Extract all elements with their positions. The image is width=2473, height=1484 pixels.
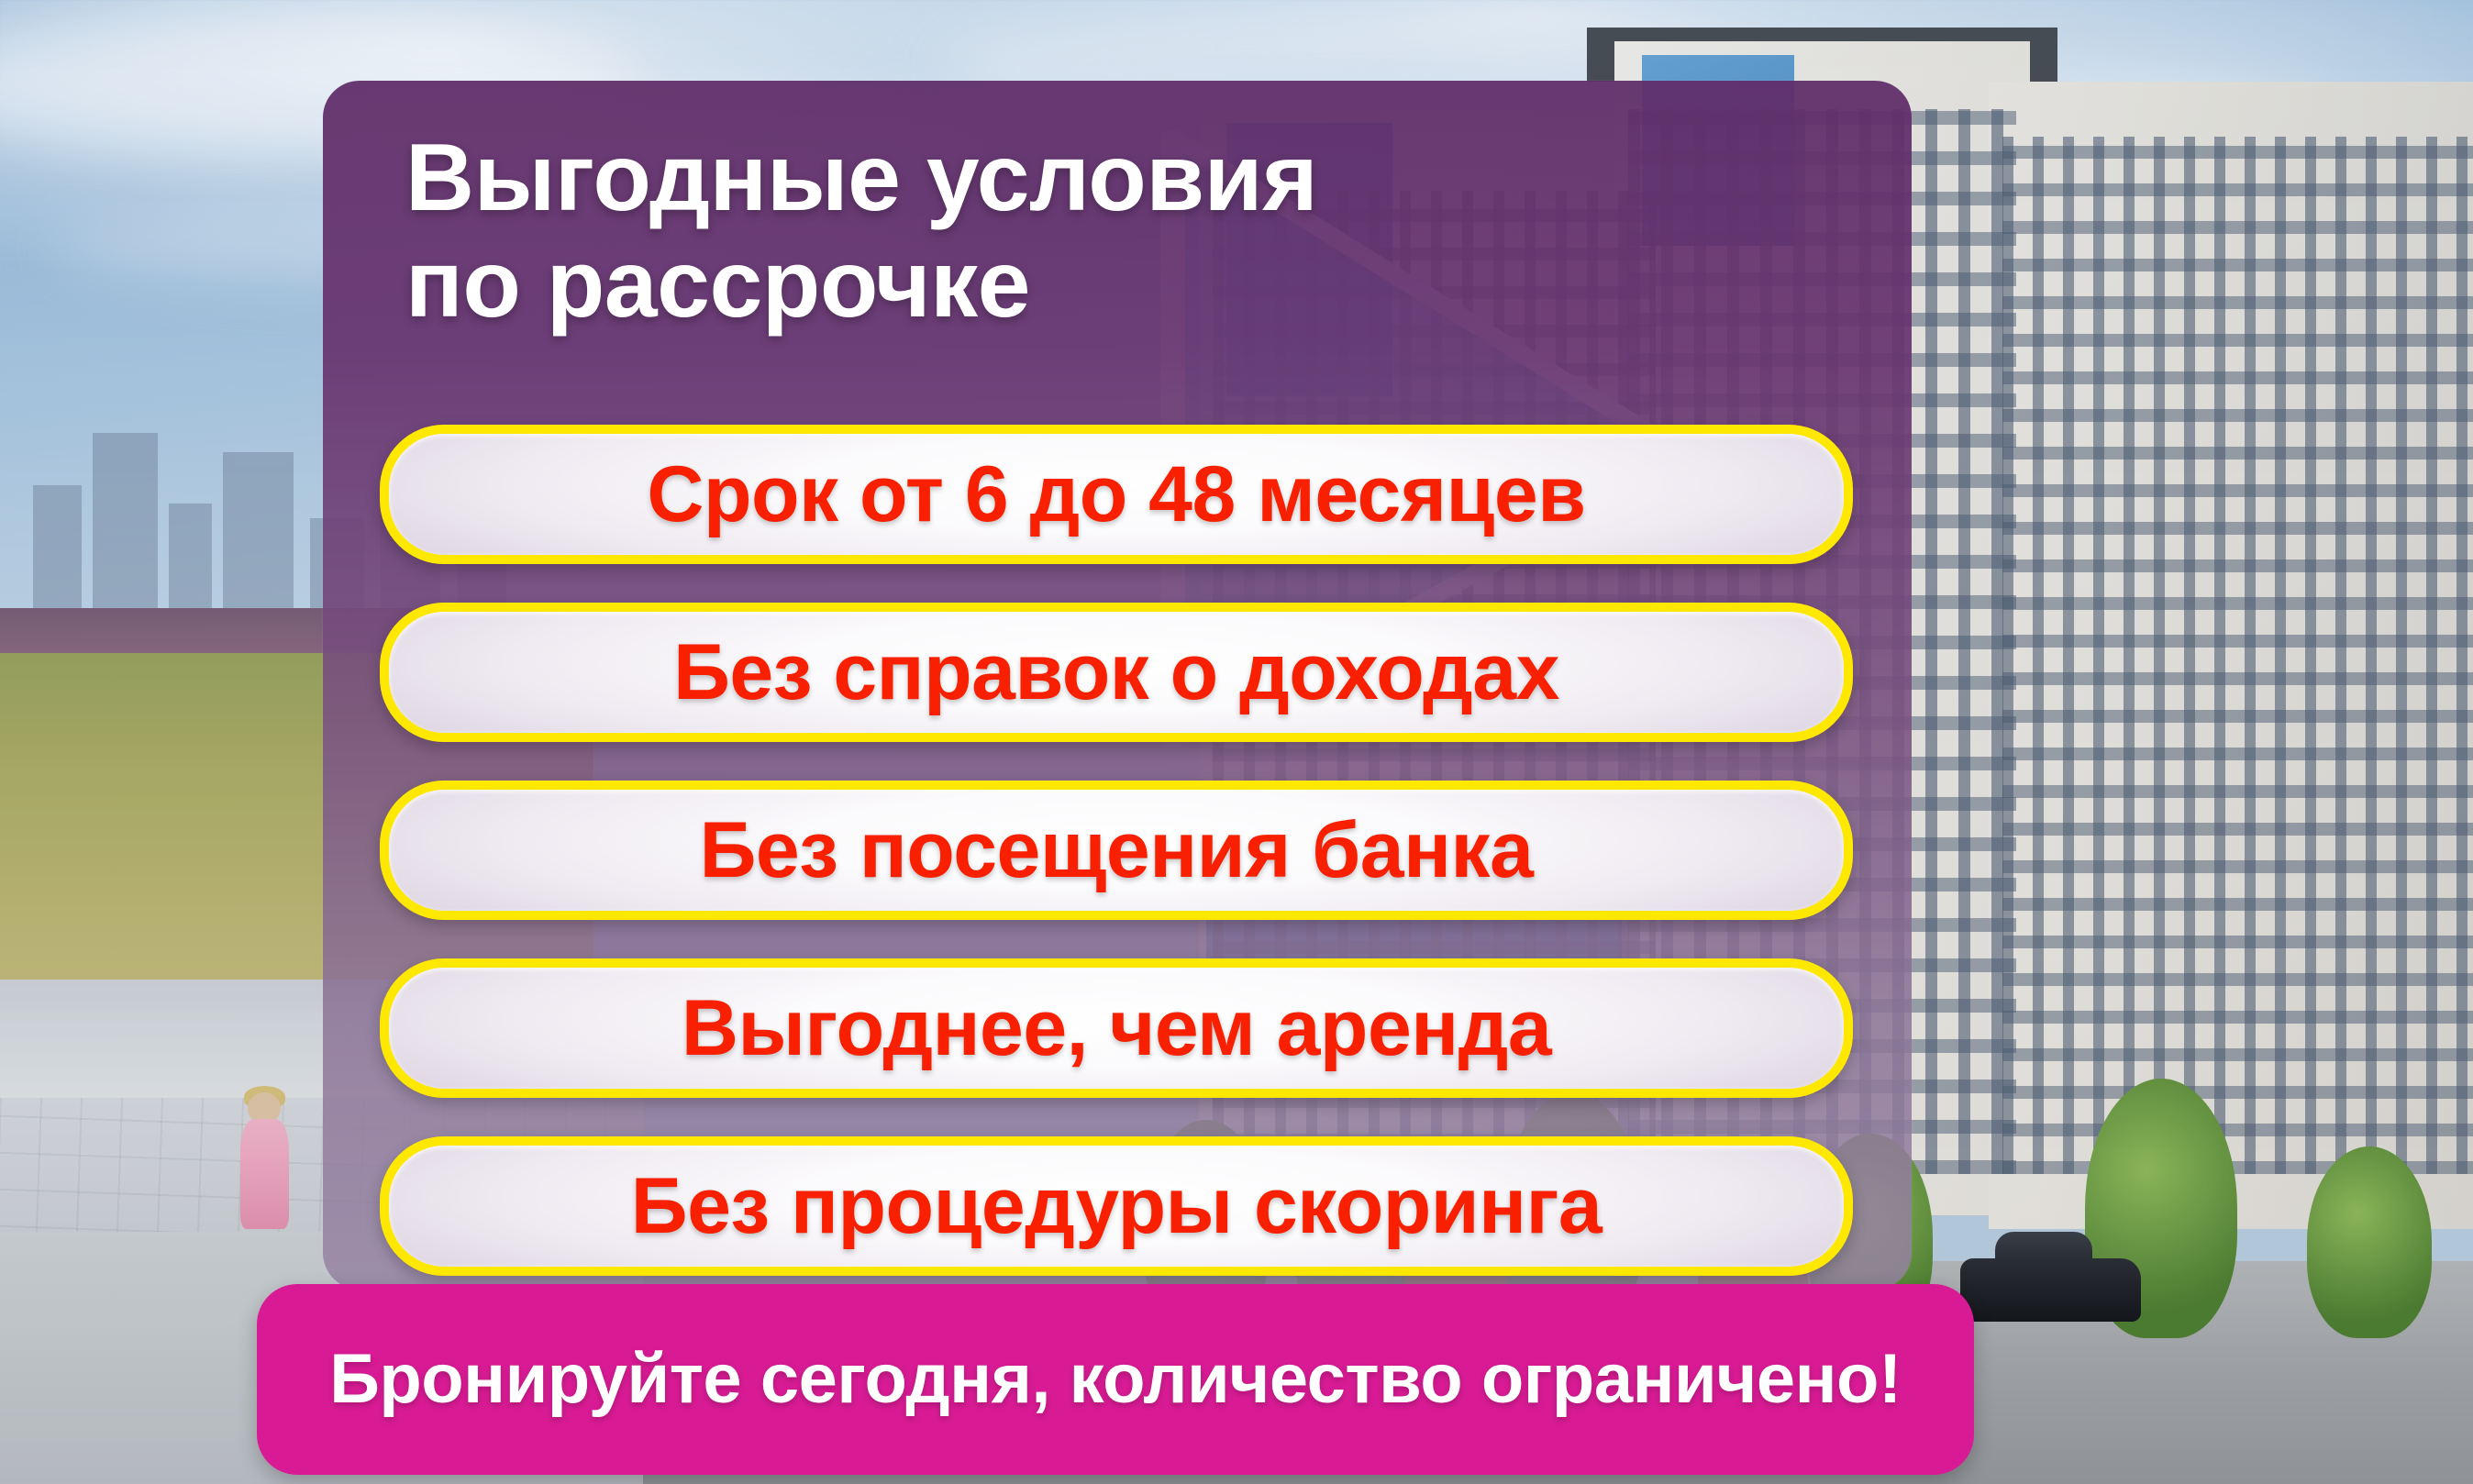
benefit-pill[interactable]: Срок от 6 до 48 месяцев: [380, 425, 1853, 564]
benefit-label: Без посещения банка: [700, 811, 1534, 890]
cta-label: Бронируйте сегодня, количество ограничен…: [329, 1345, 1902, 1414]
page-title: Выгодные условия по рассрочке: [405, 125, 1836, 338]
cta-banner[interactable]: Бронируйте сегодня, количество ограничен…: [257, 1284, 1974, 1475]
benefit-pill[interactable]: Без посещения банка: [380, 781, 1853, 920]
benefits-list: Срок от 6 до 48 месяцев Без справок о до…: [380, 425, 1853, 1276]
benefit-pill[interactable]: Без справок о доходах: [380, 603, 1853, 742]
benefit-label: Выгоднее, чем аренда: [682, 989, 1551, 1068]
benefit-pill[interactable]: Без процедуры скоринга: [380, 1136, 1853, 1276]
benefit-pill[interactable]: Выгоднее, чем аренда: [380, 958, 1853, 1098]
promo-banner: Выгодные условия по рассрочке Срок от 6 …: [0, 0, 2473, 1484]
benefit-label: Срок от 6 до 48 месяцев: [647, 455, 1585, 534]
benefit-label: Без процедуры скоринга: [631, 1167, 1602, 1246]
benefit-label: Без справок о доходах: [673, 633, 1559, 712]
offer-card: Выгодные условия по рассрочке Срок от 6 …: [323, 81, 1912, 1290]
